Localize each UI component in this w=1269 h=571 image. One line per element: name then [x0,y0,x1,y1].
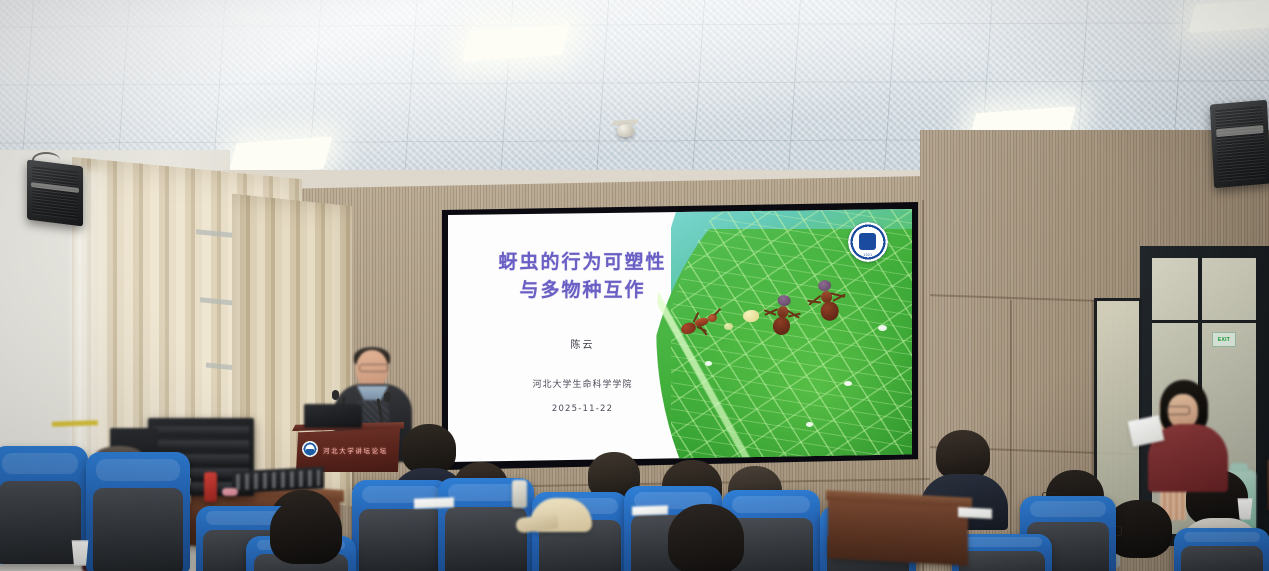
university-seal-logo: 1921 [848,222,888,262]
slide-title: 蚜虫的行为可塑性 与多物种互作 [499,249,667,304]
ant-icon [765,294,799,339]
slide-date: 2025-11-22 [552,404,613,414]
door-mullion [1152,320,1256,323]
slide-text-block: 蚜虫的行为可塑性 与多物种互作 陈云 河北大学生命科学学院 2025-11-22 [448,209,717,462]
rack-unit [153,440,249,450]
presentation-slide: 1921 蚜虫的行为可塑性 与多物种互作 陈云 河北大学生命科学学院 2025-… [448,209,912,462]
ant-head [777,295,791,307]
seat-backrest [445,507,528,571]
lecture-hall-screenshot: EXIT [0,0,1269,571]
person-head [936,430,990,480]
ant-icon [807,277,846,326]
seat-highlight [962,537,1042,547]
paper-sheet [414,497,454,508]
seal-emblem [859,233,876,250]
person-head [402,424,456,474]
seat-backrest [0,481,81,564]
keyboard-keys [236,470,320,490]
person-head [668,504,744,571]
podium-label: 河北大学讲坛论坛 [323,445,395,455]
podium: 河北大学讲坛论坛 [296,428,400,472]
audience-person [664,504,756,571]
rack-unit [153,426,249,436]
slide-title-line-2: 与多物种互作 [499,277,667,305]
paper-sheet [632,505,668,515]
water-bottle [512,480,527,508]
person-head [270,498,342,564]
ant-head [817,279,832,292]
podium-monitor [304,404,362,428]
ant-abdomen [819,300,840,322]
presenter-glasses [359,364,388,372]
auditorium-seat[interactable] [86,452,190,571]
woman-in-red-standing [1146,380,1232,492]
audience-person [266,498,352,571]
slide-organization: 河北大学生命科学学院 [533,377,633,390]
exit-sign: EXIT [1212,332,1236,347]
seat-backrest [359,509,443,571]
smoke-detector-icon [617,124,634,137]
whitefly-icon [806,422,813,427]
ant-abdomen [772,316,791,336]
paper-sheet [958,507,992,519]
seat-highlight [2,453,79,474]
seat-highlight [1030,501,1107,517]
speaker-grille [32,166,78,220]
seat-backrest [93,488,182,571]
seal-year-label: 1921 [848,253,888,257]
microphone-head [384,392,391,402]
audience-desk [828,496,968,565]
podium-logo-emblem [306,449,314,454]
podium-logo-icon [302,441,318,457]
pink-item [222,488,238,496]
wood-panel-seam [1010,300,1012,560]
seat-backrest [1181,546,1264,571]
seat-backrest [959,551,1045,571]
seat-highlight [1184,532,1261,543]
person-glasses [1166,406,1190,415]
slide-author: 陈云 [571,336,595,351]
projection-screen[interactable]: 1921 蚜虫的行为可塑性 与多物种互作 陈云 河北大学生命科学学院 2025-… [442,202,918,470]
wall-speaker-left [27,160,83,227]
wall-speaker-right [1210,100,1269,189]
red-thermos [204,472,217,502]
microphone-head [332,390,339,400]
seat-highlight [96,459,179,481]
slide-title-line-1: 蚜虫的行为可塑性 [499,249,667,277]
auditorium-seat[interactable] [352,480,450,571]
aphid-icon [724,323,733,330]
auditorium-seat[interactable] [1174,528,1269,571]
speaker-grille [1215,106,1266,182]
ceiling-light-panel [1189,0,1269,33]
